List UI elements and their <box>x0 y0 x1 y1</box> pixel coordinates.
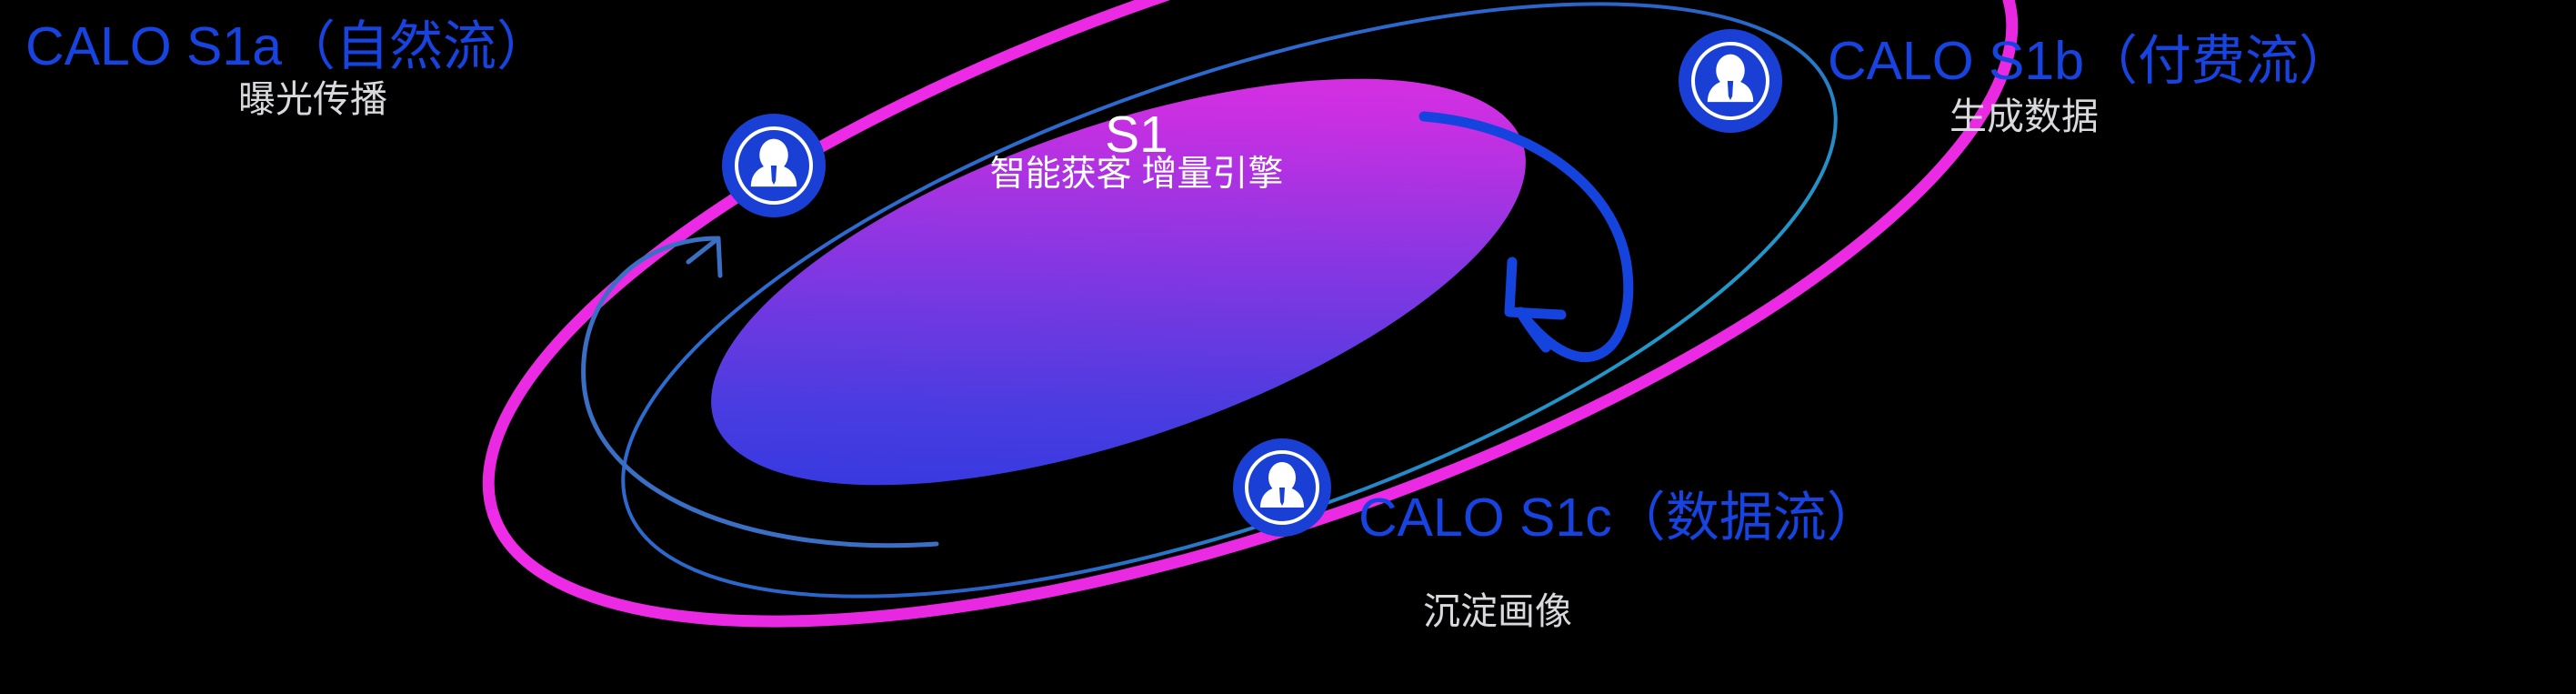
core-ellipse <box>664 0 1574 569</box>
node-label-s1a-title: CALO S1a（自然流） <box>25 20 550 74</box>
node-label-s1b-subtitle: 生成数据 <box>1950 98 2099 136</box>
node-label-s1b-title: CALO S1b（付费流） <box>1828 35 2352 88</box>
node-label-s1c-title: CALO S1c（数据流） <box>1358 491 1880 545</box>
node-label-s1a-subtitle: 曝光传播 <box>238 81 387 118</box>
node-label-s1c-subtitle: 沉淀画像 <box>1423 593 1572 630</box>
core-title: S1 <box>964 109 1309 161</box>
node-s1c[interactable] <box>1233 438 1331 537</box>
core-subtitle: 智能获客 增量引擎 <box>846 156 1428 192</box>
node-s1a[interactable] <box>722 114 826 217</box>
node-s1b[interactable] <box>1679 29 1782 133</box>
diagram-canvas: S1 智能获客 增量引擎 CALO S1a（自然流） 曝光传播 CALO S1b… <box>0 0 2576 694</box>
